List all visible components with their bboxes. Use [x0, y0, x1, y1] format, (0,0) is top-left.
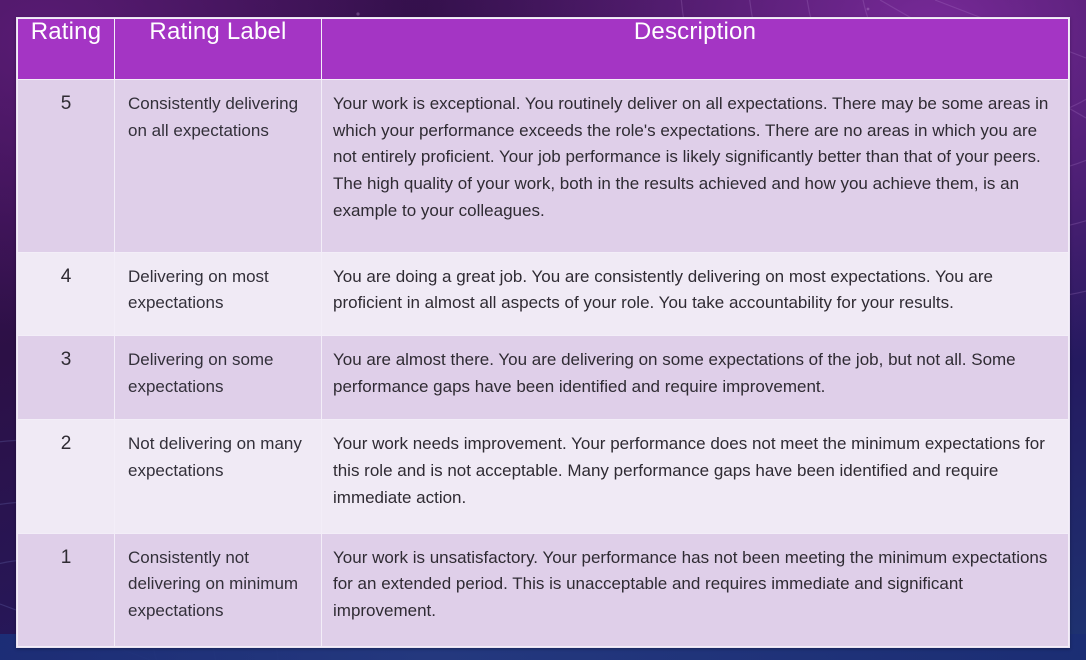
cell-rating-value: 5	[18, 80, 115, 253]
table-body: 5 Consistently delivering on all expecta…	[18, 80, 1069, 647]
cell-rating-label: Delivering on most expectations	[115, 252, 322, 336]
table-row: 2 Not delivering on many expectations Yo…	[18, 420, 1069, 533]
slide-canvas: Rating Rating Label Description 5 Consis…	[0, 0, 1086, 660]
rating-label-text: Not delivering on many expectations	[128, 431, 311, 484]
description-text: You are almost there. You are delivering…	[333, 347, 1054, 400]
cell-description: Your work is unsatisfactory. Your perfor…	[322, 533, 1069, 646]
description-text: You are doing a great job. You are consi…	[333, 264, 1054, 317]
rating-label-text: Consistently not delivering on minimum e…	[128, 545, 311, 625]
rating-scale-table: Rating Rating Label Description 5 Consis…	[17, 18, 1069, 647]
cell-description: Your work needs improvement. Your perfor…	[322, 420, 1069, 533]
column-header-rating-label: Rating Label	[115, 19, 322, 80]
column-header-description: Description	[322, 19, 1069, 80]
cell-rating-label: Delivering on some expectations	[115, 336, 322, 420]
description-text: Your work is unsatisfactory. Your perfor…	[333, 545, 1054, 625]
cell-rating-label: Consistently not delivering on minimum e…	[115, 533, 322, 646]
cell-rating-label: Not delivering on many expectations	[115, 420, 322, 533]
description-text: Your work needs improvement. Your perfor…	[333, 431, 1054, 511]
table-row: 3 Delivering on some expectations You ar…	[18, 336, 1069, 420]
cell-rating-label: Consistently delivering on all expectati…	[115, 80, 322, 253]
cell-rating-value: 3	[18, 336, 115, 420]
cell-description: You are almost there. You are delivering…	[322, 336, 1069, 420]
rating-label-text: Consistently delivering on all expectati…	[128, 91, 311, 144]
column-header-rating: Rating	[18, 19, 115, 80]
cell-rating-value: 2	[18, 420, 115, 533]
rating-label-text: Delivering on most expectations	[128, 264, 311, 317]
cell-description: Your work is exceptional. You routinely …	[322, 80, 1069, 253]
rating-label-text: Delivering on some expectations	[128, 347, 311, 400]
description-text: Your work is exceptional. You routinely …	[333, 91, 1054, 224]
table-header: Rating Rating Label Description	[18, 19, 1069, 80]
table-row: 1 Consistently not delivering on minimum…	[18, 533, 1069, 646]
cell-description: You are doing a great job. You are consi…	[322, 252, 1069, 336]
rating-scale-table-container: Rating Rating Label Description 5 Consis…	[16, 17, 1070, 648]
table-row: 4 Delivering on most expectations You ar…	[18, 252, 1069, 336]
table-row: 5 Consistently delivering on all expecta…	[18, 80, 1069, 253]
cell-rating-value: 1	[18, 533, 115, 646]
header-row: Rating Rating Label Description	[18, 19, 1069, 80]
cell-rating-value: 4	[18, 252, 115, 336]
